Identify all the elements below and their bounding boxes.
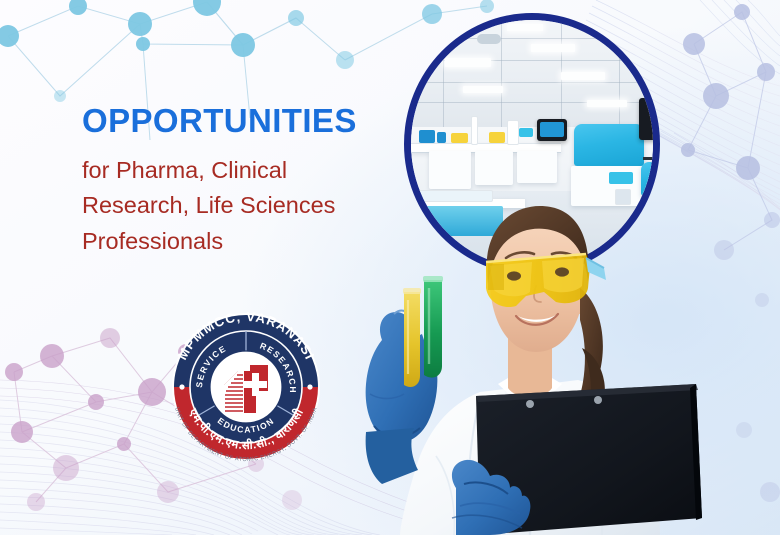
scientist-alt: Smiling female scientist wearing yellow … bbox=[0, 0, 1, 1]
lab-flask bbox=[507, 120, 519, 145]
bench-cabinet-1 bbox=[429, 151, 471, 189]
computer-monitor bbox=[639, 98, 660, 140]
bench-cabinet-2 bbox=[475, 151, 513, 185]
sample-rack-blue-1 bbox=[419, 130, 435, 143]
page-title: OPPORTUNITIES bbox=[82, 104, 412, 139]
logo-alt: MPMMCC Varanasi institutional emblem bbox=[0, 0, 1, 1]
wave-lines-top-right-b bbox=[700, 0, 780, 74]
yellow-test-tube bbox=[403, 288, 421, 387]
subtitle-line-3: Professionals bbox=[82, 228, 223, 254]
subtitle-line-2: Research, Life Sciences bbox=[82, 192, 335, 218]
sample-rack-blue-2 bbox=[437, 132, 446, 143]
scientist-svg bbox=[330, 188, 730, 535]
pipette-stand bbox=[471, 116, 478, 145]
bench-cabinet-3 bbox=[517, 151, 557, 183]
poster-canvas: OPPORTUNITIES for Pharma, Clinical Resea… bbox=[0, 0, 780, 535]
monitor-base bbox=[643, 157, 660, 160]
analyzer-machine-main bbox=[574, 124, 644, 166]
monitor-stand bbox=[653, 140, 658, 158]
lab-ceiling bbox=[411, 20, 653, 127]
reagent-tray bbox=[519, 128, 533, 137]
mpmmcc-logo-svg: MPMMCC, VARANASI एम.पी.एम.एम.सी.सी., वार… bbox=[158, 299, 334, 475]
analyzer-sample-tray bbox=[609, 172, 633, 184]
sample-box-yellow-1 bbox=[451, 133, 468, 143]
lab-photo-alt: Modern clinical laboratory interior with… bbox=[0, 0, 1, 1]
mpmmcc-logo: MPMMCC, VARANASI एम.पी.एम.एम.सी.सी., वार… bbox=[158, 299, 334, 475]
sample-box-yellow-2 bbox=[489, 132, 505, 143]
analyzer-screen-display bbox=[540, 122, 564, 137]
scientist-figure bbox=[330, 188, 730, 535]
subtitle-line-1: for Pharma, Clinical bbox=[82, 157, 287, 183]
green-test-tube bbox=[423, 276, 443, 378]
